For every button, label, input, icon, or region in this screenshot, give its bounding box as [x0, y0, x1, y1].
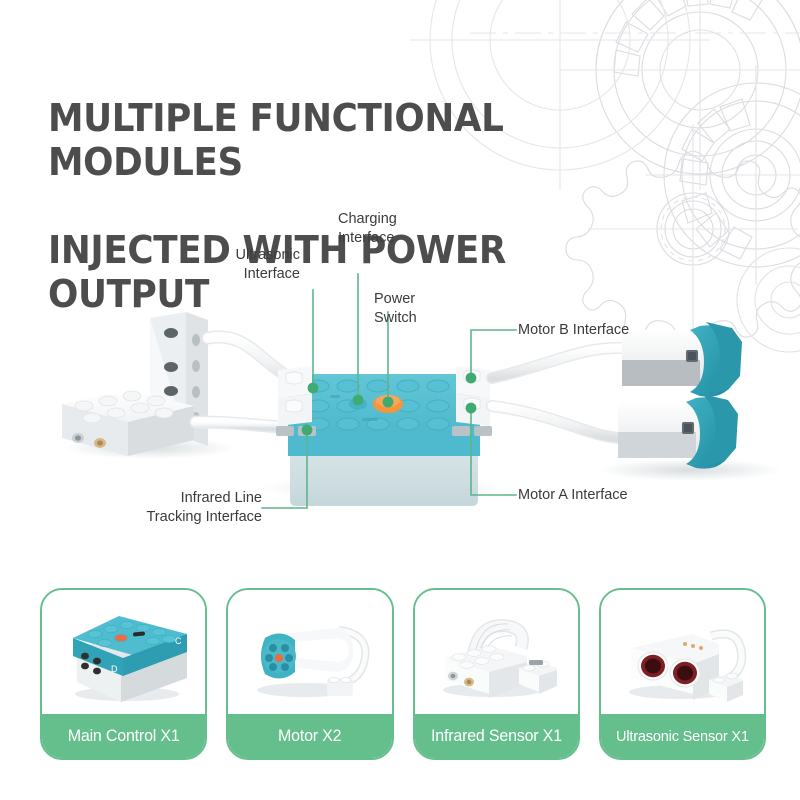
callout-label-ultrasonic-interface: Ultrasonic Interface — [150, 246, 300, 284]
svg-text:C: C — [175, 636, 182, 646]
motor-label-bar: Motor X2 — [228, 714, 391, 758]
main-control-label-bar: Main Control X1 — [42, 714, 205, 758]
infrared-sensor-label-bar: Infrared Sensor X1 — [415, 714, 578, 758]
callout-label-power-switch: Power Switch — [374, 290, 484, 328]
infrared-sensor-image — [415, 590, 578, 718]
product-card-motor[interactable]: Motor X2 — [226, 588, 393, 760]
infographic-page: MULTIPLE FUNCTIONAL MODULES INJECTED WIT… — [0, 0, 800, 800]
exploded-diagram: Ultrasonic Interface Charging Interface … — [0, 190, 800, 560]
product-card-list: D C Main Control X1 — [40, 588, 766, 760]
ultrasonic-sensor-label-bar: Ultrasonic Sensor X1 — [601, 714, 764, 758]
callout-label-infrared-line-tracking-interface: Infrared Line Tracking Interface — [58, 489, 262, 527]
main-control-image: D C — [42, 590, 205, 718]
product-card-infrared-sensor[interactable]: Infrared Sensor X1 — [413, 588, 580, 760]
card-label: Infrared Sensor X1 — [431, 727, 562, 746]
product-card-ultrasonic-sensor[interactable]: Ultrasonic Sensor X1 — [599, 588, 766, 760]
card-label: Main Control X1 — [68, 727, 180, 746]
callout-label-motor-a-interface: Motor A Interface — [518, 486, 708, 505]
ultrasonic-sensor-image — [601, 590, 764, 718]
callout-label-motor-b-interface: Motor B Interface — [518, 321, 708, 340]
motor-image — [228, 590, 391, 718]
product-card-main-control[interactable]: D C Main Control X1 — [40, 588, 207, 760]
headline-line-1: MULTIPLE FUNCTIONAL MODULES — [48, 96, 650, 184]
card-label: Motor X2 — [278, 727, 341, 746]
left-sensor-modules — [62, 312, 208, 456]
card-label: Ultrasonic Sensor X1 — [616, 728, 749, 745]
callout-label-charging-interface: Charging Interface — [338, 210, 448, 248]
motor-modules — [492, 322, 742, 469]
svg-text:D: D — [111, 664, 118, 674]
